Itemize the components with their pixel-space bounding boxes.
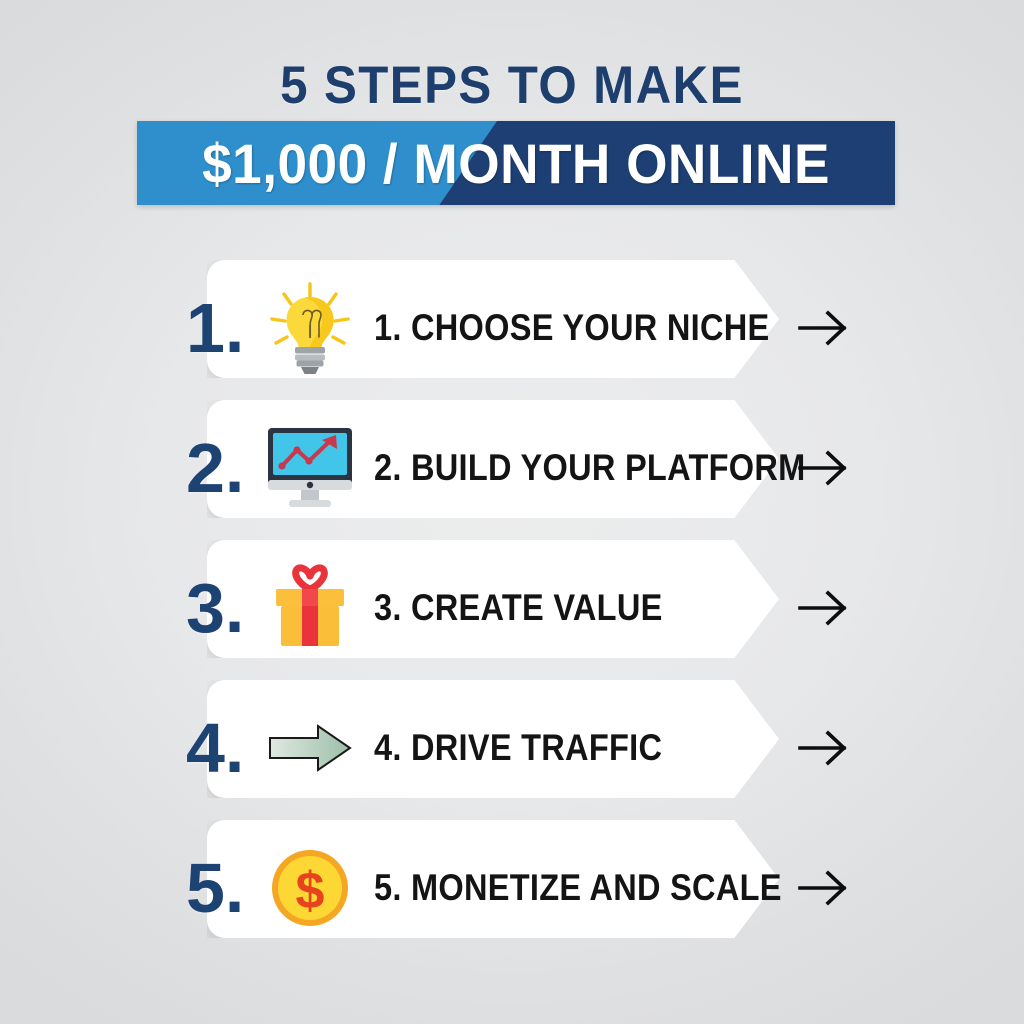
right-arrow-icon[interactable]	[798, 447, 850, 489]
infographic-canvas: 5 STEPS TO MAKE $1,000 / MONTH ONLINE 1.	[0, 0, 1024, 1024]
right-arrow-icon[interactable]	[798, 307, 850, 349]
right-arrow-icon[interactable]	[798, 587, 850, 629]
step-label: 1. CHOOSE YOUR NICHE	[374, 307, 769, 349]
desktop-chart-icon	[256, 418, 364, 518]
svg-text:$: $	[296, 862, 325, 920]
step-row[interactable]: 2. 2. BUILD YOUR	[0, 398, 1024, 538]
step-row[interactable]: 4. 4. DRIVE TRAFFIC	[0, 678, 1024, 818]
steps-list: 1.	[0, 258, 1024, 958]
lightbulb-icon	[256, 278, 364, 378]
step-row[interactable]: 3. 3. CREATE VALUE	[0, 538, 1024, 678]
step-row[interactable]: 5. $ 5. MONETIZE AND SCALE	[0, 818, 1024, 958]
block-arrow-icon	[256, 698, 364, 798]
step-number: 4.	[186, 713, 244, 783]
right-arrow-icon[interactable]	[798, 867, 850, 909]
step-number: 3.	[186, 573, 244, 643]
page-title-line-1: 5 STEPS TO MAKE	[36, 58, 988, 114]
step-row[interactable]: 1.	[0, 258, 1024, 398]
step-label: 5. MONETIZE AND SCALE	[374, 867, 782, 909]
headline-banner: $1,000 / MONTH ONLINE	[137, 121, 895, 205]
right-arrow-icon[interactable]	[798, 727, 850, 769]
gold-coin-icon: $	[256, 838, 364, 938]
gift-box-icon	[256, 558, 364, 658]
step-number: 5.	[186, 853, 244, 923]
page-title-line-2: $1,000 / MONTH ONLINE	[156, 121, 876, 205]
step-number: 2.	[186, 433, 244, 503]
step-label: 4. DRIVE TRAFFIC	[374, 727, 662, 769]
step-label: 2. BUILD YOUR PLATFORM	[374, 447, 806, 489]
step-number: 1.	[186, 293, 244, 363]
step-label: 3. CREATE VALUE	[374, 587, 663, 629]
